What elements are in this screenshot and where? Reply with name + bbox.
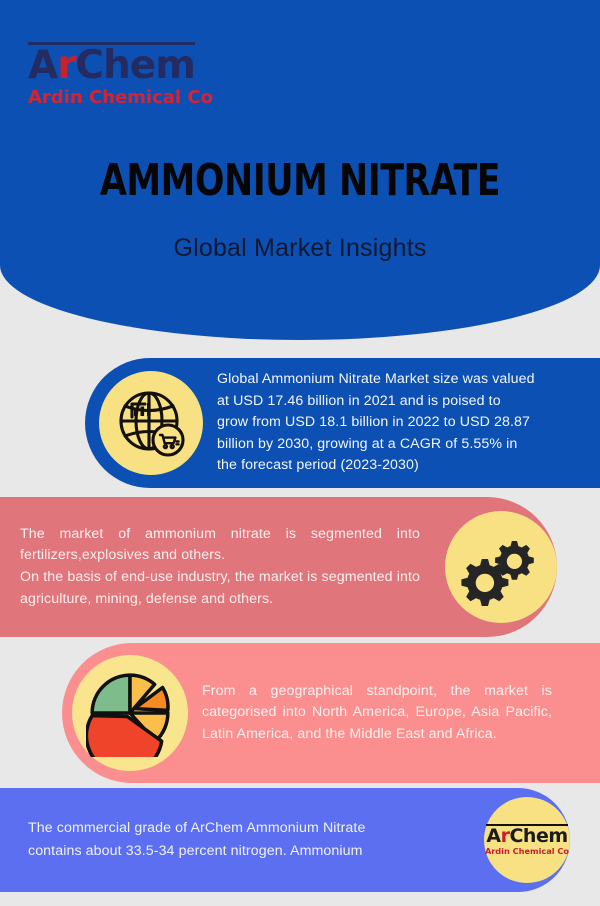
archem-logo-tagline: Ardin Chemical Co — [28, 87, 213, 108]
grade-card: The commercial grade of ArChem Ammonium … — [0, 788, 570, 892]
badge-wordmark: ArChem — [486, 824, 567, 846]
grade-text: The commercial grade of ArChem Ammonium … — [28, 817, 418, 863]
logo-letter-r: r — [57, 43, 75, 88]
globe-barchart-cart-icon — [99, 371, 203, 475]
page-subtitle: Global Market Insights — [0, 234, 600, 263]
archem-logo-badge-inner: ArChem Ardin Chemical Co — [485, 824, 569, 855]
infographic-page: ArChem Ardin Chemical Co AMMONIUM NITRAT… — [0, 0, 600, 906]
archem-logo-badge: ArChem Ardin Chemical Co — [484, 797, 570, 883]
geography-text: From a geographical standpoint, the mark… — [202, 681, 552, 746]
badge-letters-chem: Chem — [509, 825, 567, 847]
archem-logo: ArChem Ardin Chemical Co — [28, 42, 213, 108]
badge-letter-a: A — [486, 825, 500, 847]
market-size-text: Global Ammonium Nitrate Market size was … — [217, 369, 535, 477]
gears-icon — [445, 511, 557, 623]
segmentation-text: The market of ammonium nitrate is segmen… — [20, 524, 420, 610]
page-title: AMMONIUM NITRATE — [36, 155, 564, 206]
badge-tagline: Ardin Chemical Co — [485, 847, 569, 855]
geography-card: From a geographical standpoint, the mark… — [62, 643, 600, 783]
logo-letters-chem: Chem — [75, 43, 194, 88]
segmentation-card: The market of ammonium nitrate is segmen… — [0, 497, 557, 637]
header-banner: ArChem Ardin Chemical Co AMMONIUM NITRAT… — [0, 0, 600, 340]
market-size-card: Global Ammonium Nitrate Market size was … — [85, 358, 600, 488]
gears-icon-wrap — [445, 511, 557, 623]
archem-logo-wordmark: ArChem — [28, 42, 195, 85]
logo-letter-a: A — [28, 43, 57, 88]
pie-chart-icon — [72, 655, 188, 771]
